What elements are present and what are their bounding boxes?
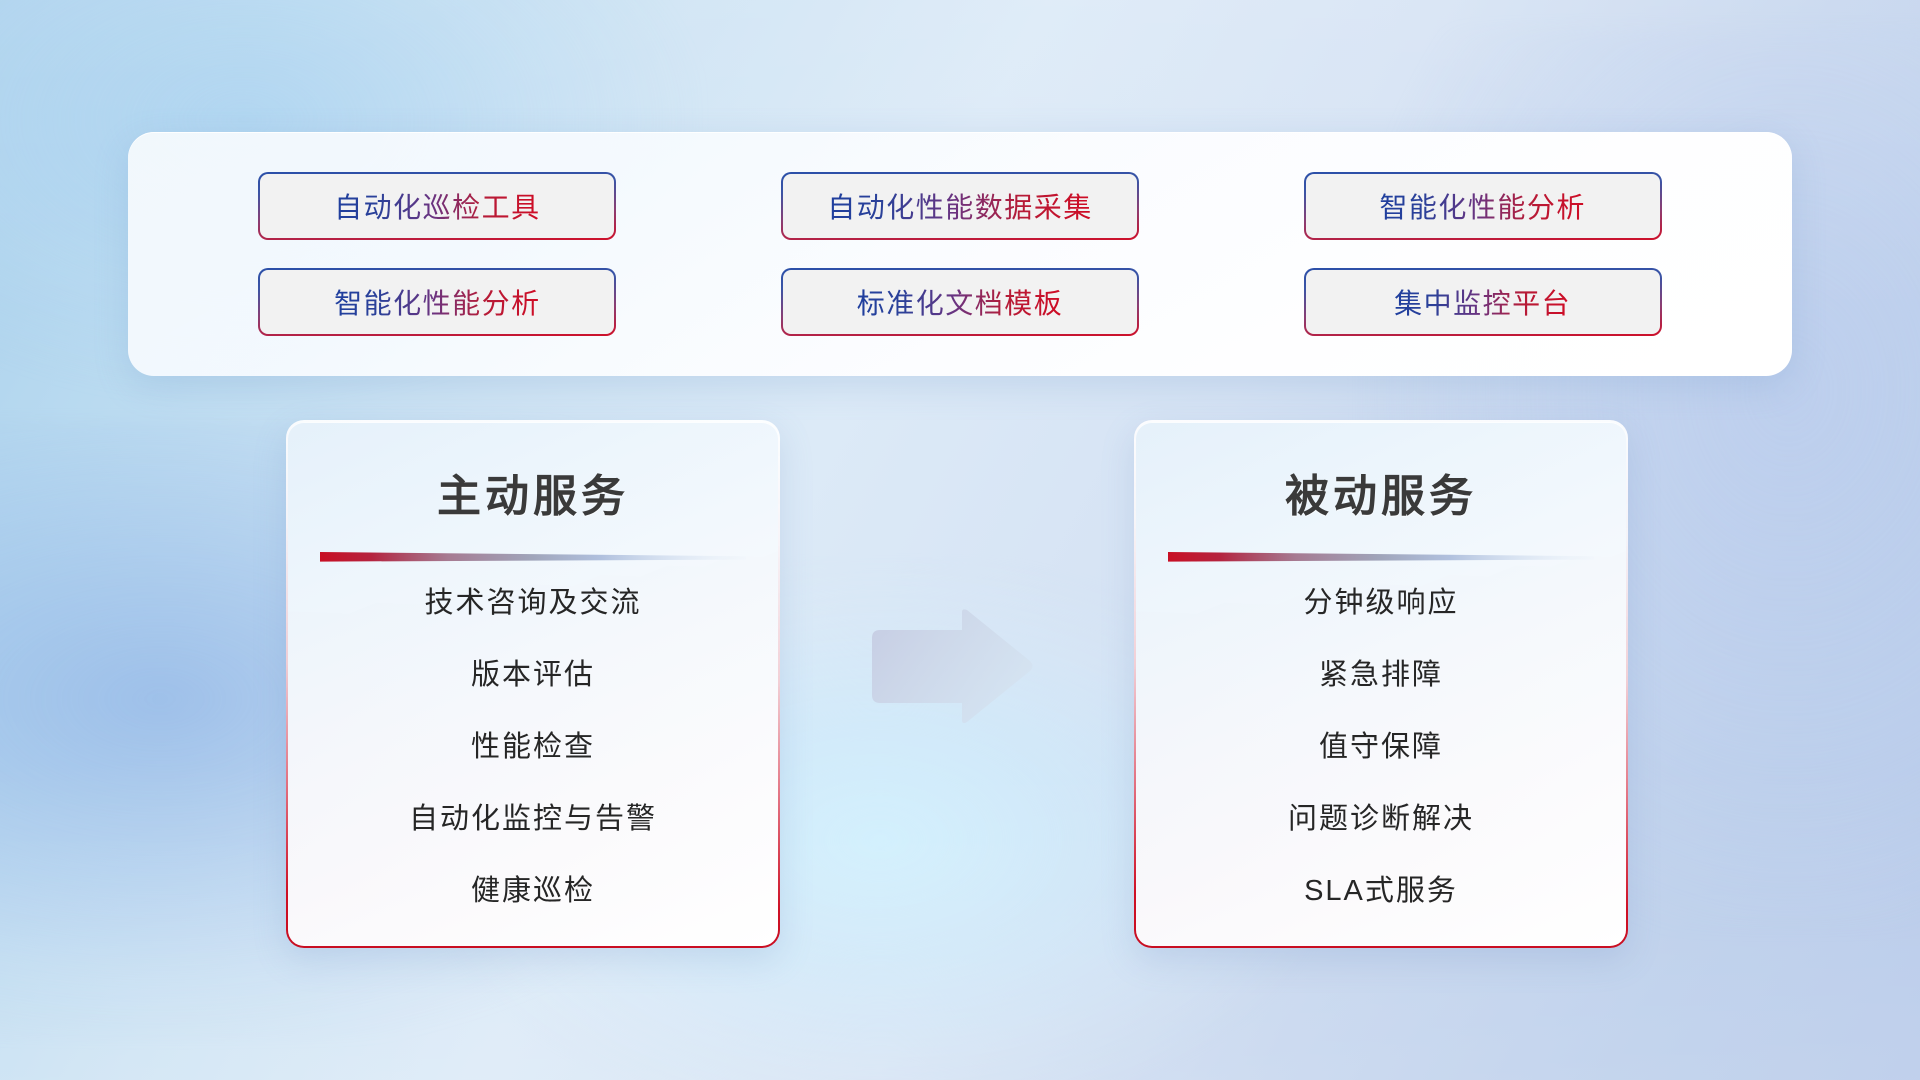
- list-item: 性能检查: [471, 733, 595, 762]
- list-item: SLA式服务: [1304, 877, 1458, 906]
- card-list-active: 技术咨询及交流 版本评估 性能检查 自动化监控与告警 健康巡检: [322, 576, 744, 922]
- list-item: 健康巡检: [471, 877, 595, 906]
- capability-pill-automated-performance-data-collection[interactable]: 自动化性能数据采集: [781, 172, 1139, 240]
- capabilities-panel: 自动化巡检工具 自动化性能数据采集 智能化性能分析 智能化性能分析 标准化文档模…: [128, 132, 1792, 376]
- list-item: 技术咨询及交流: [424, 589, 641, 618]
- capability-pill-label: 自动化性能数据采集: [827, 186, 1093, 226]
- card-list-passive: 分钟级响应 紧急排障 值守保障 问题诊断解决 SLA式服务: [1170, 576, 1592, 922]
- capability-pill-label: 智能化性能分析: [1379, 186, 1586, 226]
- card-divider-active: [320, 550, 746, 566]
- capability-pill-standardized-document-template[interactable]: 标准化文档模板: [781, 268, 1139, 336]
- capability-pill-intelligent-performance-analysis-top[interactable]: 智能化性能分析: [1304, 172, 1662, 240]
- card-title-passive: 被动服务: [1285, 460, 1477, 524]
- capability-pill-label: 集中监控平台: [1394, 282, 1571, 322]
- capability-pill-intelligent-performance-analysis-bottom[interactable]: 智能化性能分析: [258, 268, 616, 336]
- service-card-passive[interactable]: 被动服务 分钟级响应 紧急排障: [1134, 420, 1628, 948]
- card-divider-passive: [1168, 550, 1594, 566]
- list-item: 版本评估: [471, 661, 595, 690]
- capability-pill-automated-inspection-tool[interactable]: 自动化巡检工具: [258, 172, 616, 240]
- list-item: 分钟级响应: [1303, 589, 1458, 618]
- list-item: 自动化监控与告警: [409, 805, 657, 834]
- list-item: 紧急排障: [1319, 661, 1443, 690]
- flow-arrow-right-icon: [866, 608, 1034, 726]
- capability-pill-label: 自动化巡检工具: [334, 186, 541, 226]
- service-card-active[interactable]: 主动服务 技术咨询及交流 版本评估: [286, 420, 780, 948]
- list-item: 值守保障: [1319, 733, 1443, 762]
- card-title-active: 主动服务: [437, 460, 629, 524]
- list-item: 问题诊断解决: [1288, 805, 1474, 834]
- capability-pill-label: 智能化性能分析: [334, 282, 541, 322]
- capability-pill-centralized-monitoring-platform[interactable]: 集中监控平台: [1304, 268, 1662, 336]
- capability-pill-label: 标准化文档模板: [857, 282, 1064, 322]
